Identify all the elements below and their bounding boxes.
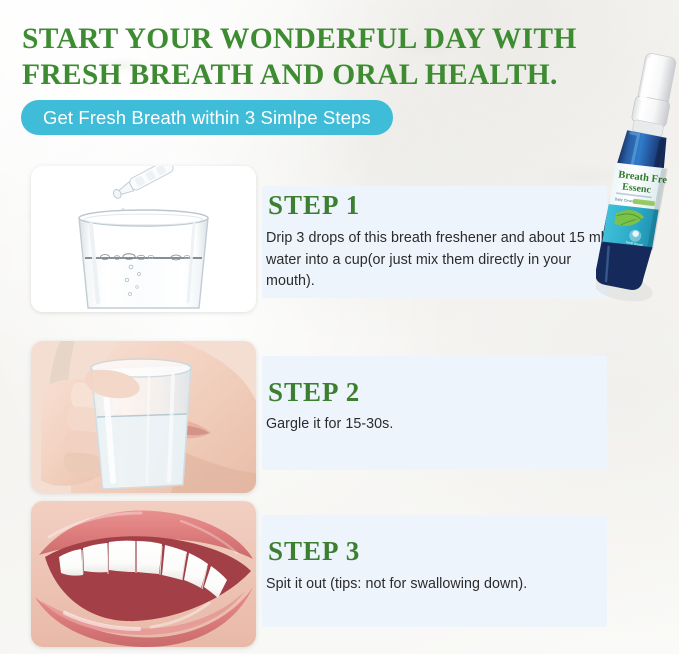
page-title: START YOUR WONDERFUL DAY WITH FRESH BREA… <box>22 22 622 94</box>
step-2-body: Gargle it for 15-30s. <box>266 414 606 436</box>
product-infographic-poster: START YOUR WONDERFUL DAY WITH FRESH BREA… <box>0 0 679 654</box>
step-2-image <box>31 341 256 493</box>
headline-line-1: START YOUR WONDERFUL DAY WITH <box>22 22 622 58</box>
step-1-body: Drip 3 drops of this breath freshener an… <box>266 228 606 293</box>
dropper-glass-illustration <box>31 166 256 312</box>
person-drinking-water-illustration <box>31 341 256 493</box>
step-2-text-panel <box>262 356 607 470</box>
smile-white-teeth-illustration <box>31 501 256 647</box>
step-1-image <box>31 166 256 312</box>
step-3-title: STEP 3 <box>268 536 360 567</box>
subtitle-badge: Get Fresh Breath within 3 Simlpe Steps <box>21 100 393 135</box>
step-3-text-panel <box>262 515 607 627</box>
step-3-image <box>31 501 256 647</box>
headline-line-2: FRESH BREATH AND ORAL HEALTH. <box>22 58 622 94</box>
step-1-title: STEP 1 <box>268 190 360 221</box>
product-bottle-image: Breath Fre Essenc Daily Cleaning Oral Ca… <box>596 40 679 312</box>
step-3-body: Spit it out (tips: not for swallowing do… <box>266 574 606 596</box>
step-2-title: STEP 2 <box>268 377 360 408</box>
dropper-bottle-illustration: Breath Fre Essenc Daily Cleaning Oral Ca… <box>596 40 679 312</box>
